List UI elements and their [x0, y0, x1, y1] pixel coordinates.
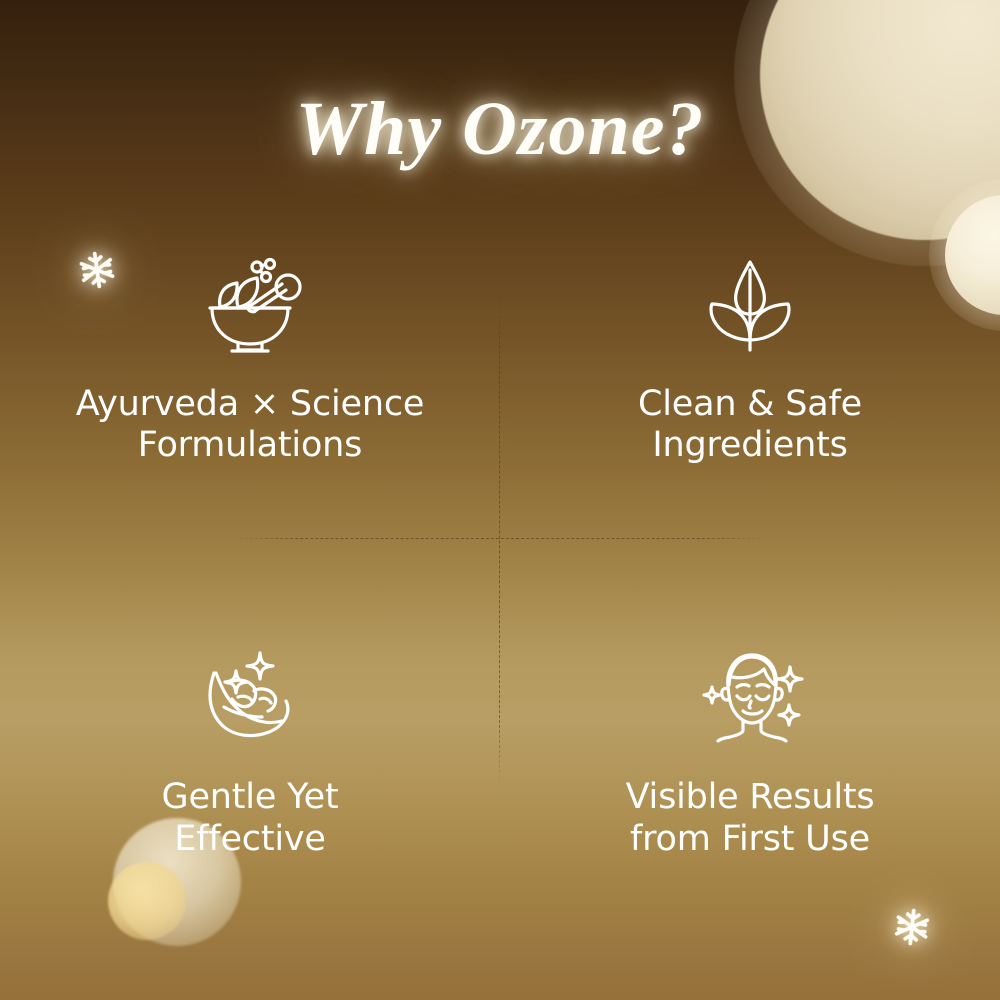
decorative-bubble-small — [108, 862, 186, 940]
feature-grid: Ayurveda × Science Formulations Clean & … — [0, 240, 1000, 860]
feature-label: Gentle Yet Effective — [162, 777, 339, 860]
snowflake-icon — [888, 903, 936, 951]
feature-label: Ayurveda × Science Formulations — [76, 384, 424, 467]
page-title: Why Ozone? — [0, 86, 1000, 173]
feature-item-visible-results: Visible Results from First Use — [500, 533, 1000, 860]
glowing-face-icon — [694, 643, 806, 747]
mortar-and-pestle-icon — [194, 254, 306, 358]
leaf-sprout-icon — [694, 254, 806, 358]
feature-item-gentle-effective: Gentle Yet Effective — [0, 533, 500, 860]
feature-item-ayurveda-science: Ayurveda × Science Formulations — [0, 240, 500, 533]
feather-sparkle-icon — [194, 643, 306, 747]
why-ozone-poster: Why Ozone? — [0, 0, 1000, 1000]
feature-label: Visible Results from First Use — [626, 777, 875, 860]
feature-item-clean-safe: Clean & Safe Ingredients — [500, 240, 1000, 533]
feature-label: Clean & Safe Ingredients — [638, 384, 862, 467]
